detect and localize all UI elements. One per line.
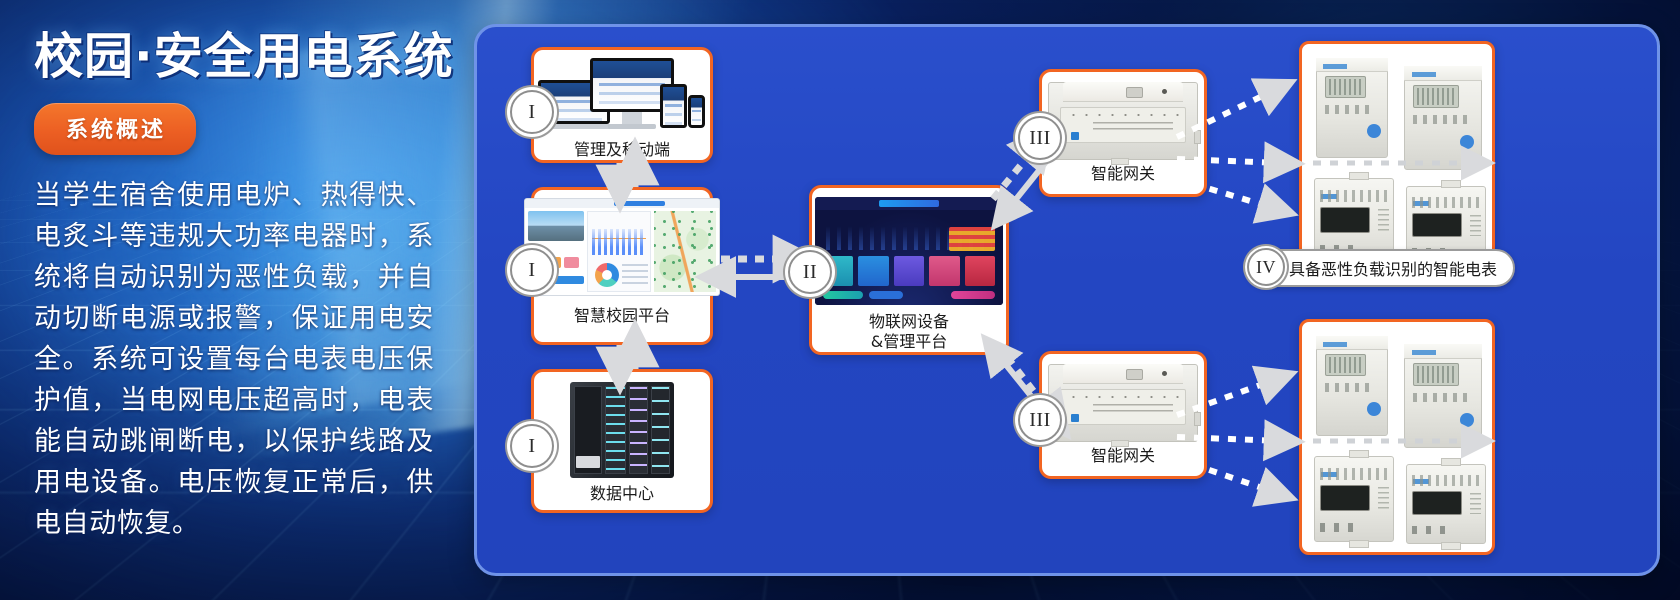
- numeral-badge-iii-gateway-top: III: [1018, 116, 1062, 160]
- connector-gateway-bottom-to-meters: [1177, 379, 1283, 493]
- connector-campus-to-iot: [717, 259, 799, 277]
- overview-paragraph: 当学生宿舍使用电炉、热得快、电炙斗等违规大功率电器时，系统将自动识别为恶性负载，…: [34, 175, 434, 544]
- numeral-badge-iii-gateway-bottom: III: [1018, 398, 1062, 442]
- numeral-badge-iv-meters: IV: [1247, 248, 1285, 286]
- section-badge-overview: 系统概述: [34, 103, 196, 155]
- intro-column: 校园·安全用电系统 系统概述 当学生宿舍使用电炉、热得快、电炙斗等违规大功率电器…: [0, 0, 470, 600]
- numeral-badge-i-campus: I: [510, 248, 554, 292]
- connector-campus-to-datacenter: [620, 345, 635, 369]
- connector-layer: [477, 27, 1657, 573]
- diagram-panel: I 管理及移动端 I 智慧校园平台: [474, 24, 1660, 576]
- numeral-badge-i-management: I: [510, 90, 554, 134]
- connector-gateway-top-to-meters: [1177, 89, 1283, 209]
- meter-group-callout[interactable]: IV 具备恶性负载识别的智能电表: [1247, 249, 1515, 287]
- page-title: 校园·安全用电系统: [34, 30, 450, 85]
- connector-management-to-campus: [620, 163, 635, 187]
- section-badge-wrap: 系统概述: [34, 103, 450, 155]
- numeral-badge-i-datacenter: I: [510, 424, 554, 468]
- meter-group-callout-label: 具备恶性负载识别的智能电表: [1289, 256, 1497, 280]
- numeral-badge-ii-iot: II: [788, 250, 832, 294]
